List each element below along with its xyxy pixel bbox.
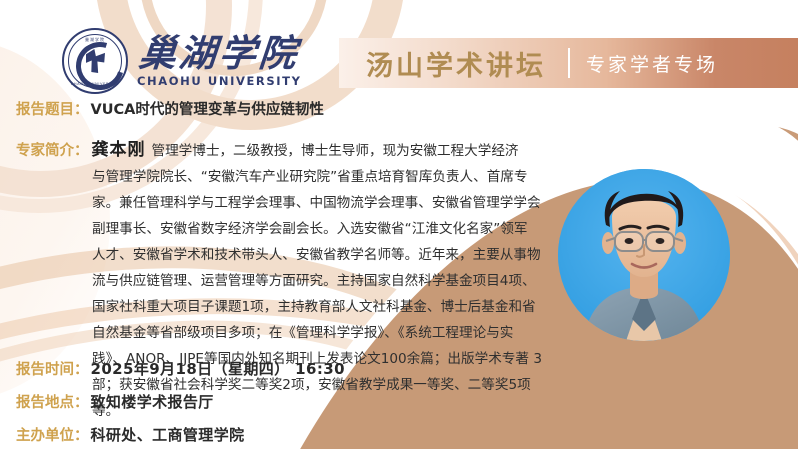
report-title-value: VUCA时代的管理变革与供应链韧性 bbox=[91, 98, 324, 119]
report-title-row: 报告题目： VUCA时代的管理变革与供应链韧性 bbox=[16, 98, 324, 119]
poster-content: 报告题目： VUCA时代的管理变革与供应链韧性 专家简介： 龚本刚 管理学博士，… bbox=[0, 0, 798, 449]
footer-row-time: 报告时间： 2025年9月18日（星期四） 16:30 bbox=[16, 358, 616, 391]
report-time-label: 报告时间： bbox=[16, 358, 89, 379]
seminar-poster: 巢湖学院 CHAOHU UNIVERSITY 巢湖学院 CHAOHU UNIVE… bbox=[0, 0, 798, 449]
organizer-label: 主办单位： bbox=[16, 424, 89, 445]
report-time-value: 2025年9月18日（星期四） 16:30 bbox=[91, 358, 345, 379]
footer-row-organizer: 主办单位： 科研处、工商管理学院 bbox=[16, 424, 616, 449]
organizer-value: 科研处、工商管理学院 bbox=[91, 424, 245, 445]
report-title-label: 报告题目： bbox=[16, 98, 89, 119]
speaker-portrait-image bbox=[558, 169, 730, 341]
speaker-portrait bbox=[558, 169, 730, 341]
speaker-name: 龚本刚 bbox=[92, 137, 146, 163]
speaker-bio-first-line: 专家简介： 龚本刚 管理学博士，二级教授，博士生导师，现为安徽工程大学经济 bbox=[16, 137, 556, 164]
speaker-bio-label: 专家简介： bbox=[16, 138, 89, 164]
report-location-label: 报告地点： bbox=[16, 391, 89, 412]
report-location-value: 致知楼学术报告厅 bbox=[91, 391, 214, 412]
footer-row-location: 报告地点： 致知楼学术报告厅 bbox=[16, 391, 616, 424]
poster-footer: 报告时间： 2025年9月18日（星期四） 16:30 报告地点： 致知楼学术报… bbox=[16, 358, 616, 449]
speaker-bio-intro: 管理学博士，二级教授，博士生导师，现为安徽工程大学经济 bbox=[152, 138, 519, 164]
